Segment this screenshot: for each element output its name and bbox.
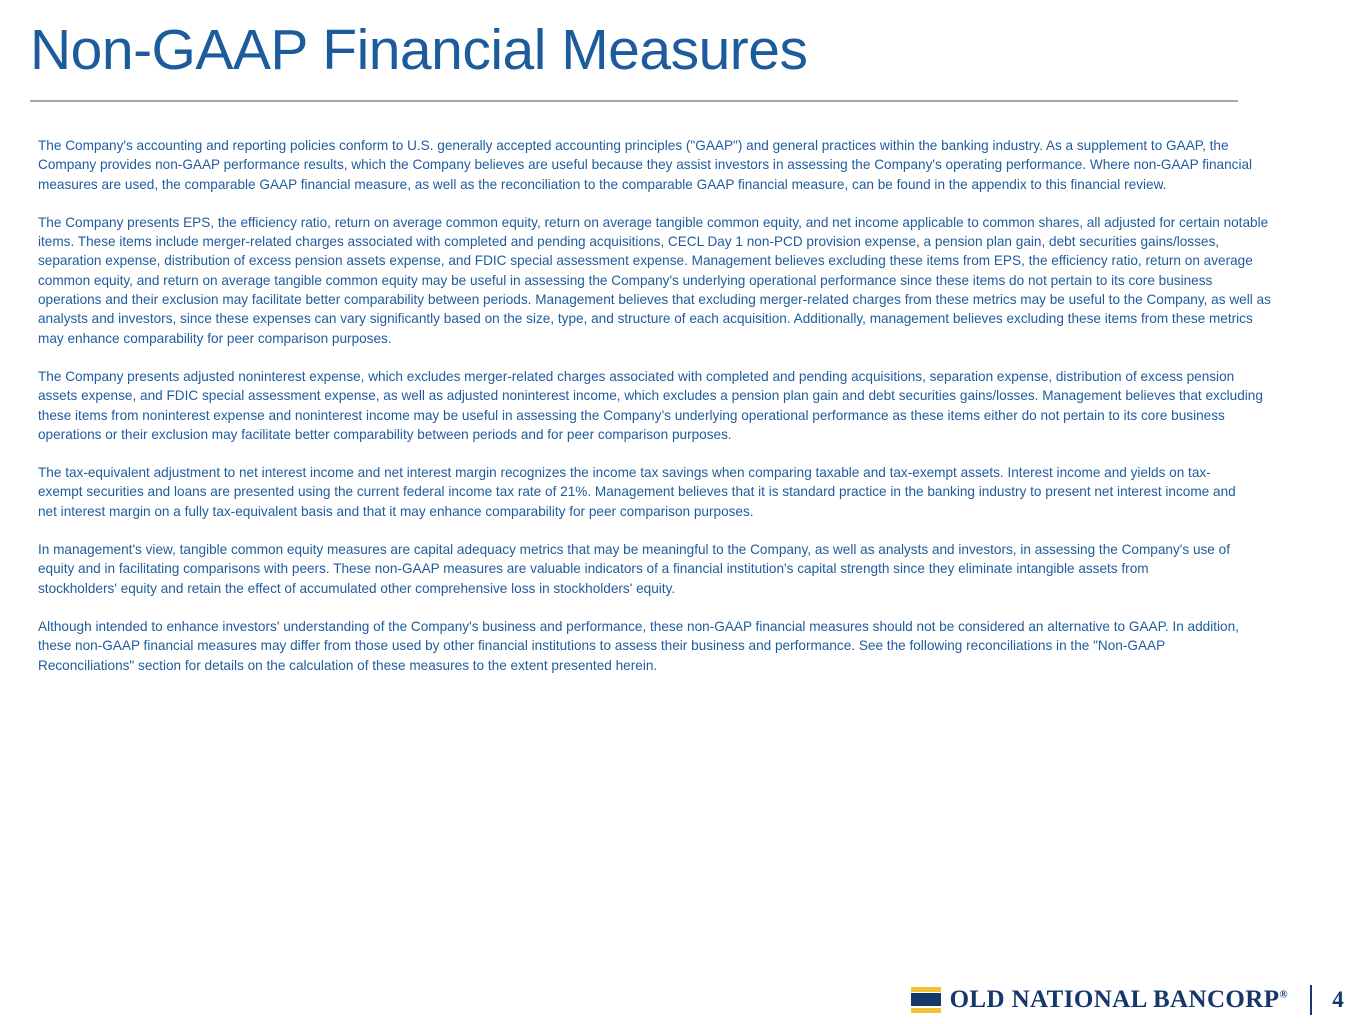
- logo-wordmark-text: OLD NATIONAL BANCORP: [950, 986, 1280, 1013]
- paragraph-tangible-common-equity: In management's view, tangible common eq…: [38, 540, 1230, 598]
- logo-wordmark: OLD NATIONAL BANCORP®: [950, 987, 1288, 1012]
- paragraph-tax-equivalent: The tax-equivalent adjustment to net int…: [38, 463, 1254, 521]
- page-number: 4: [1331, 988, 1345, 1011]
- logo-navy-bar-middle: [911, 993, 941, 1006]
- logo-gold-bar-top: [911, 987, 941, 992]
- paragraph-adjusted-metrics: The Company presents EPS, the efficiency…: [38, 213, 1273, 348]
- old-national-bancorp-flag-mark-icon: [911, 987, 941, 1013]
- slide-footer: OLD NATIONAL BANCORP® 4: [0, 975, 1365, 1024]
- page-title: Non-GAAP Financial Measures: [30, 16, 1245, 84]
- paragraph-adjusted-noninterest: The Company presents adjusted noninteres…: [38, 367, 1270, 444]
- footer-divider: [1310, 985, 1312, 1015]
- paragraph-disclaimer: Although intended to enhance investors' …: [38, 617, 1248, 675]
- title-block: Non-GAAP Financial Measures: [30, 16, 1245, 84]
- title-divider-rule: [30, 100, 1238, 102]
- logo-gold-bar-bottom: [911, 1008, 941, 1013]
- slide-canvas: Non-GAAP Financial Measures The Company'…: [0, 0, 1365, 1024]
- paragraph-accounting-policies: The Company's accounting and reporting p…: [38, 136, 1270, 194]
- body-copy: The Company's accounting and reporting p…: [38, 136, 1273, 675]
- brand-lockup: OLD NATIONAL BANCORP® 4: [911, 975, 1345, 1024]
- registered-trademark-icon: ®: [1279, 989, 1288, 1001]
